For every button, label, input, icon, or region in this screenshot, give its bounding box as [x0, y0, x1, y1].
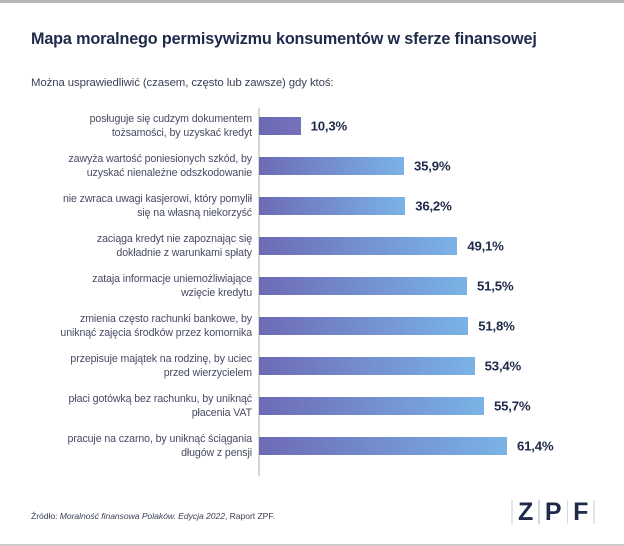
bar-wrapper: [259, 157, 404, 175]
bar-category-label-line: uzyskać nienależne odszkodowanie: [22, 166, 252, 180]
bar[interactable]: [259, 277, 467, 295]
bar[interactable]: [259, 197, 405, 215]
bar[interactable]: [259, 357, 475, 375]
bar-row: posługuje się cudzym dokumentemtożsamośc…: [0, 106, 624, 146]
logo-letter-f: F: [573, 500, 588, 525]
bar-category-label-line: zaciąga kredyt nie zapoznając się: [22, 232, 252, 246]
bar-value-label: 55,7%: [494, 399, 530, 414]
bar-row: zmienia często rachunki bankowe, byunikn…: [0, 306, 624, 346]
bar-row: płaci gotówką bez rachunku, by uniknąćpł…: [0, 386, 624, 426]
bar-category-label-line: zawyża wartość poniesionych szkód, by: [22, 152, 252, 166]
bar-category-label-line: dokładnie z warunkami spłaty: [22, 246, 252, 260]
bar-chart-plot-area: posługuje się cudzym dokumentemtożsamośc…: [0, 106, 624, 486]
bar-category-label-line: przed wierzycielem: [22, 366, 252, 380]
logo-separator-bar: [567, 500, 569, 524]
bar-category-label: zataja informacje uniemożliwiającewzięci…: [22, 272, 252, 300]
bar-value-label: 51,5%: [477, 279, 513, 294]
source-note: Źródło: Moralność finansowa Polaków. Edy…: [31, 511, 275, 521]
bar-category-label-line: zmienia często rachunki bankowe, by: [22, 312, 252, 326]
source-suffix: , Raport ZPF.: [225, 511, 275, 521]
bar-category-label-line: wzięcie kredytu: [22, 286, 252, 300]
bar-category-label-line: posługuje się cudzym dokumentem: [22, 112, 252, 126]
bar-wrapper: [259, 197, 405, 215]
logo-letter-p: P: [545, 500, 562, 525]
bar-category-label-line: uniknąć zajęcia środków przez komornika: [22, 326, 252, 340]
bar-row: zawyża wartość poniesionych szkód, byuzy…: [0, 146, 624, 186]
bar-category-label-line: zataja informacje uniemożliwiające: [22, 272, 252, 286]
bar-row: zaciąga kredyt nie zapoznając siędokładn…: [0, 226, 624, 266]
logo-separator-bar: [538, 500, 540, 524]
logo-separator-bar: [593, 500, 595, 524]
logo-separator-bar: [511, 500, 513, 524]
page-title: Mapa moralnego permisywizmu konsumentów …: [31, 30, 601, 49]
chart-subtitle: Można usprawiedliwić (czasem, często lub…: [31, 77, 591, 89]
bar-value-label: 35,9%: [414, 159, 450, 174]
bar[interactable]: [259, 397, 484, 415]
bar-category-label-line: tożsamości, by uzyskać kredyt: [22, 126, 252, 140]
bar-value-label: 51,8%: [478, 319, 514, 334]
bar-value-label: 53,4%: [485, 359, 521, 374]
bar-row: nie zwraca uwagi kasjerowi, który pomyli…: [0, 186, 624, 226]
bar-category-label: płaci gotówką bez rachunku, by uniknąćpł…: [22, 392, 252, 420]
bar-category-label-line: płacenia VAT: [22, 406, 252, 420]
bar[interactable]: [259, 317, 468, 335]
bar-row: zataja informacje uniemożliwiającewzięci…: [0, 266, 624, 306]
bar-category-label: nie zwraca uwagi kasjerowi, który pomyli…: [22, 192, 252, 220]
bar-value-label: 36,2%: [415, 199, 451, 214]
bar-category-label: zmienia często rachunki bankowe, byunikn…: [22, 312, 252, 340]
bar-row: pracuje na czarno, by uniknąć ściąganiad…: [0, 426, 624, 466]
bar-value-label: 49,1%: [467, 239, 503, 254]
bar-row: przepisuje majątek na rodzinę, by uciecp…: [0, 346, 624, 386]
bar-category-label-line: nie zwraca uwagi kasjerowi, który pomyli…: [22, 192, 252, 206]
source-title: Moralność finansowa Polaków. Edycja 2022: [60, 511, 225, 521]
bar-wrapper: [259, 317, 468, 335]
source-prefix: Źródło:: [31, 511, 60, 521]
bar-category-label-line: pracuje na czarno, by uniknąć ściągania: [22, 432, 252, 446]
bar-wrapper: [259, 237, 457, 255]
bar-category-label: zawyża wartość poniesionych szkód, byuzy…: [22, 152, 252, 180]
bar-value-label: 10,3%: [311, 119, 347, 134]
bar-category-label-line: się na własną niekorzyść: [22, 206, 252, 220]
bar[interactable]: [259, 157, 404, 175]
bar-wrapper: [259, 357, 475, 375]
bar[interactable]: [259, 437, 507, 455]
bar[interactable]: [259, 117, 301, 135]
chart-page: Mapa moralnego permisywizmu konsumentów …: [0, 0, 624, 546]
bar-category-label-line: przepisuje majątek na rodzinę, by uciec: [22, 352, 252, 366]
bar-category-label-line: płaci gotówką bez rachunku, by uniknąć: [22, 392, 252, 406]
bar-category-label: posługuje się cudzym dokumentemtożsamośc…: [22, 112, 252, 140]
bar-category-label-line: długów z pensji: [22, 446, 252, 460]
bar-category-label: zaciąga kredyt nie zapoznając siędokładn…: [22, 232, 252, 260]
bar-wrapper: [259, 437, 507, 455]
bar-category-label: pracuje na czarno, by uniknąć ściąganiad…: [22, 432, 252, 460]
zpf-logo: Z P F: [506, 495, 600, 529]
bar-value-label: 61,4%: [517, 439, 553, 454]
bar-wrapper: [259, 397, 484, 415]
bar-category-label: przepisuje majątek na rodzinę, by uciecp…: [22, 352, 252, 380]
bar-wrapper: [259, 277, 467, 295]
bar[interactable]: [259, 237, 457, 255]
logo-letter-z: Z: [518, 500, 533, 525]
bar-wrapper: [259, 117, 301, 135]
